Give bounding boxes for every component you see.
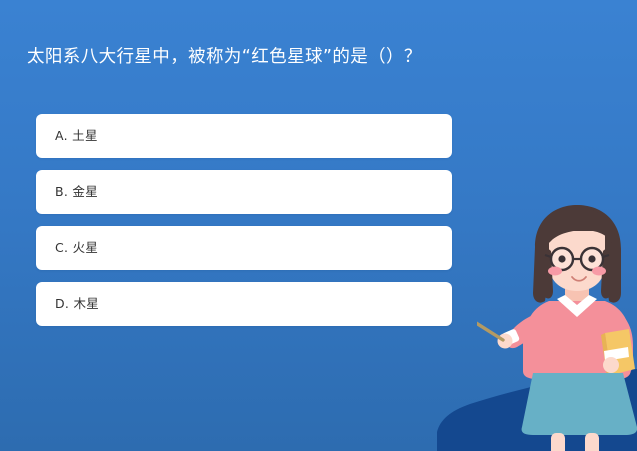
option-label-b: B. 金星 xyxy=(55,183,98,201)
hand-holding-shape xyxy=(603,357,619,373)
cheek-right-shape xyxy=(592,267,606,276)
option-card-b[interactable]: B. 金星 xyxy=(36,170,452,214)
leg-right-shape xyxy=(585,433,599,451)
hand-pointing-shape xyxy=(498,334,513,349)
option-label-d: D. 木星 xyxy=(55,295,99,313)
option-label-a: A. 土星 xyxy=(55,127,98,145)
option-label-c: C. 火星 xyxy=(55,239,98,257)
pointer-stick-shape xyxy=(477,297,503,340)
quiz-question-screen: 太阳系八大行星中，被称为“红色星球”的是（）？ A. 土星 B. 金星 C. 火… xyxy=(0,0,637,451)
option-card-c[interactable]: C. 火星 xyxy=(36,226,452,270)
option-card-d[interactable]: D. 木星 xyxy=(36,282,452,326)
cheek-left-shape xyxy=(548,267,562,276)
page-title: 太阳系八大行星中，被称为“红色星球”的是（）？ xyxy=(27,44,497,70)
options-list: A. 土星 B. 金星 C. 火星 D. 木星 xyxy=(36,114,452,326)
skirt-shape xyxy=(522,373,637,435)
eye-right-shape xyxy=(588,255,595,262)
leg-left-shape xyxy=(551,433,565,451)
teacher-with-pointer-illustration xyxy=(477,201,637,451)
option-card-a[interactable]: A. 土星 xyxy=(36,114,452,158)
eye-left-shape xyxy=(558,255,565,262)
